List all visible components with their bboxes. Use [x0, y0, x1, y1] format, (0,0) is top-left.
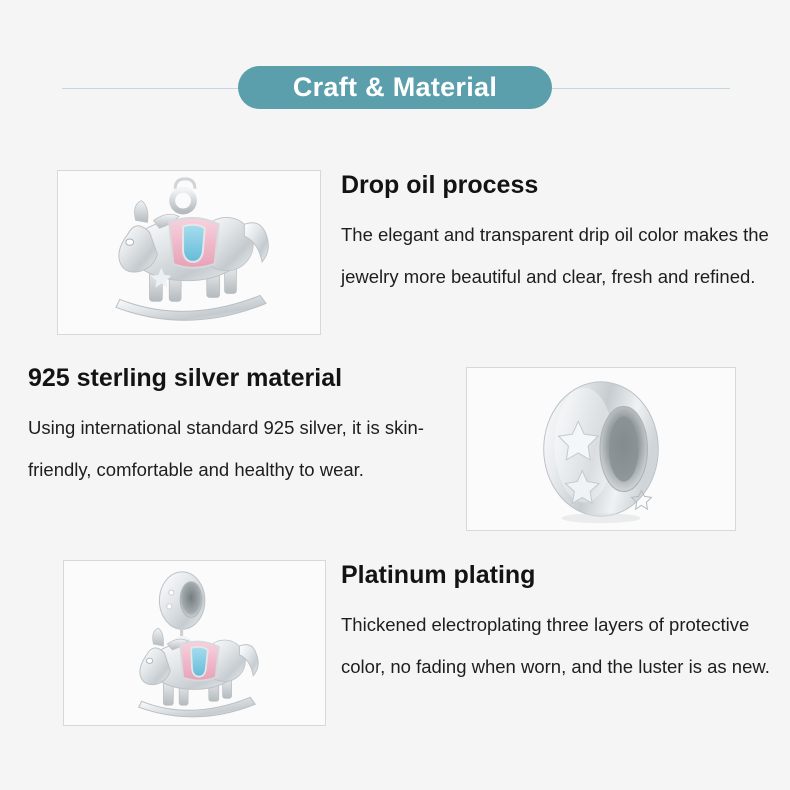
header-divider-left [62, 88, 252, 89]
rocking-horse-pendant-icon [64, 561, 325, 725]
star-spacer-bead-icon [467, 368, 735, 530]
section-text-925-sterling-silver-material: 925 sterling silver material Using inter… [28, 365, 458, 491]
header-divider-right [540, 88, 730, 89]
page-header: Craft & Material [0, 0, 790, 150]
product-image-frame-rocking-horse-pendant [63, 560, 326, 726]
section-heading: Drop oil process [341, 172, 773, 200]
section-heading: Platinum plating [341, 562, 773, 590]
section-title-badge: Craft & Material [238, 66, 552, 109]
section-description: Using international standard 925 silver,… [28, 407, 458, 491]
section-text-platinum-plating: Platinum plating Thickened electroplatin… [341, 562, 773, 688]
product-image-frame-rocking-horse-charm [57, 170, 321, 335]
section-text-drop-oil-process: Drop oil process The elegant and transpa… [341, 172, 773, 298]
rocking-horse-charm-icon [58, 171, 320, 334]
section-description: Thickened electroplating three layers of… [341, 604, 773, 688]
section-description: The elegant and transparent drip oil col… [341, 214, 773, 298]
product-image-frame-star-spacer-bead [466, 367, 736, 531]
page-title: Craft & Material [293, 74, 497, 101]
section-heading: 925 sterling silver material [28, 365, 458, 393]
